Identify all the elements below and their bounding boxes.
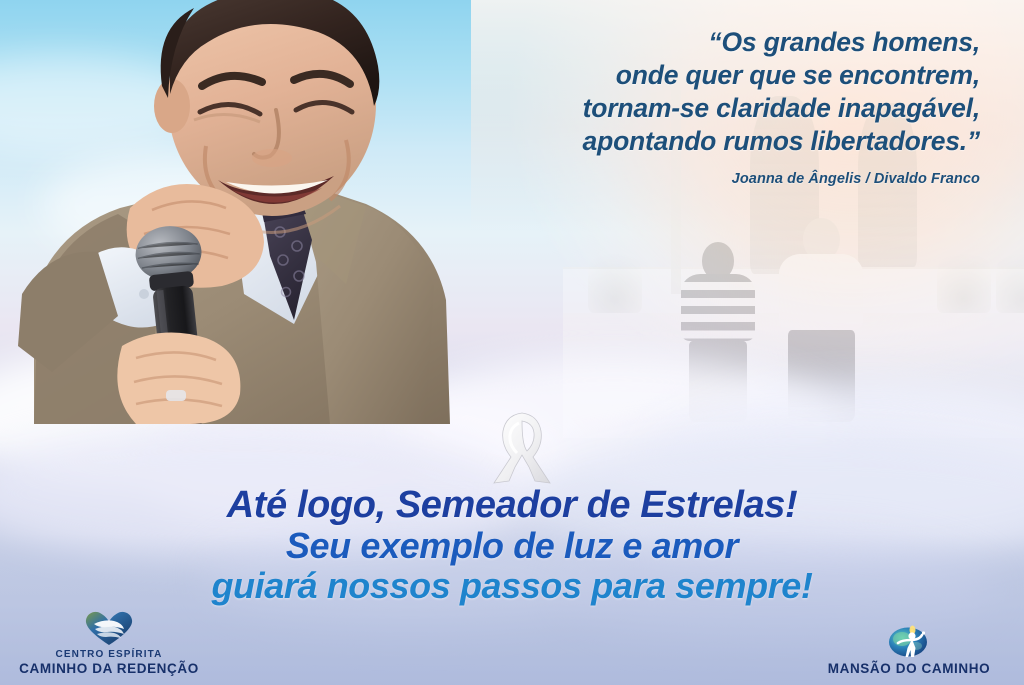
logo-centro-espirita: CENTRO ESPÍRITA CAMINHO DA REDENÇÃO (14, 610, 204, 676)
quote-line-1: “Os grandes homens, (420, 26, 980, 59)
logo-left-line-1: CENTRO ESPÍRITA (56, 649, 163, 661)
heart-with-hands-icon (84, 610, 134, 646)
headline-line-2: Seu exemplo de luz e amor (0, 526, 1024, 566)
memorial-poster: “Os grandes homens, onde quer que se enc… (0, 0, 1024, 685)
quote-line-2: onde quer que se encontrem, (420, 59, 980, 92)
headline-line-1: Até logo, Semeador de Estrelas! (0, 484, 1024, 526)
headline-block: Até logo, Semeador de Estrelas! Seu exem… (0, 484, 1024, 606)
background-figure-child (681, 274, 755, 419)
quote-attribution: Joanna de Ângelis / Divaldo Franco (420, 171, 980, 187)
logo-mansao-do-caminho: MANSÃO DO CAMINHO (804, 618, 1014, 676)
background-figure-adult (779, 254, 863, 418)
logo-left-line-2: CAMINHO DA REDENÇÃO (19, 661, 199, 676)
quote-line-3: tornam-se claridade inapagável, (420, 92, 980, 125)
logo-right-line-1: MANSÃO DO CAMINHO (828, 661, 990, 676)
headline-line-3: guiará nossos passos para sempre! (0, 566, 1024, 606)
portrait-divaldo-franco (0, 0, 474, 424)
quote-block: “Os grandes homens, onde quer que se enc… (420, 26, 980, 187)
white-mourning-ribbon-icon (489, 409, 555, 487)
globe-with-figure-icon (887, 618, 931, 658)
quote-line-4: apontando rumos libertadores.” (420, 125, 980, 158)
